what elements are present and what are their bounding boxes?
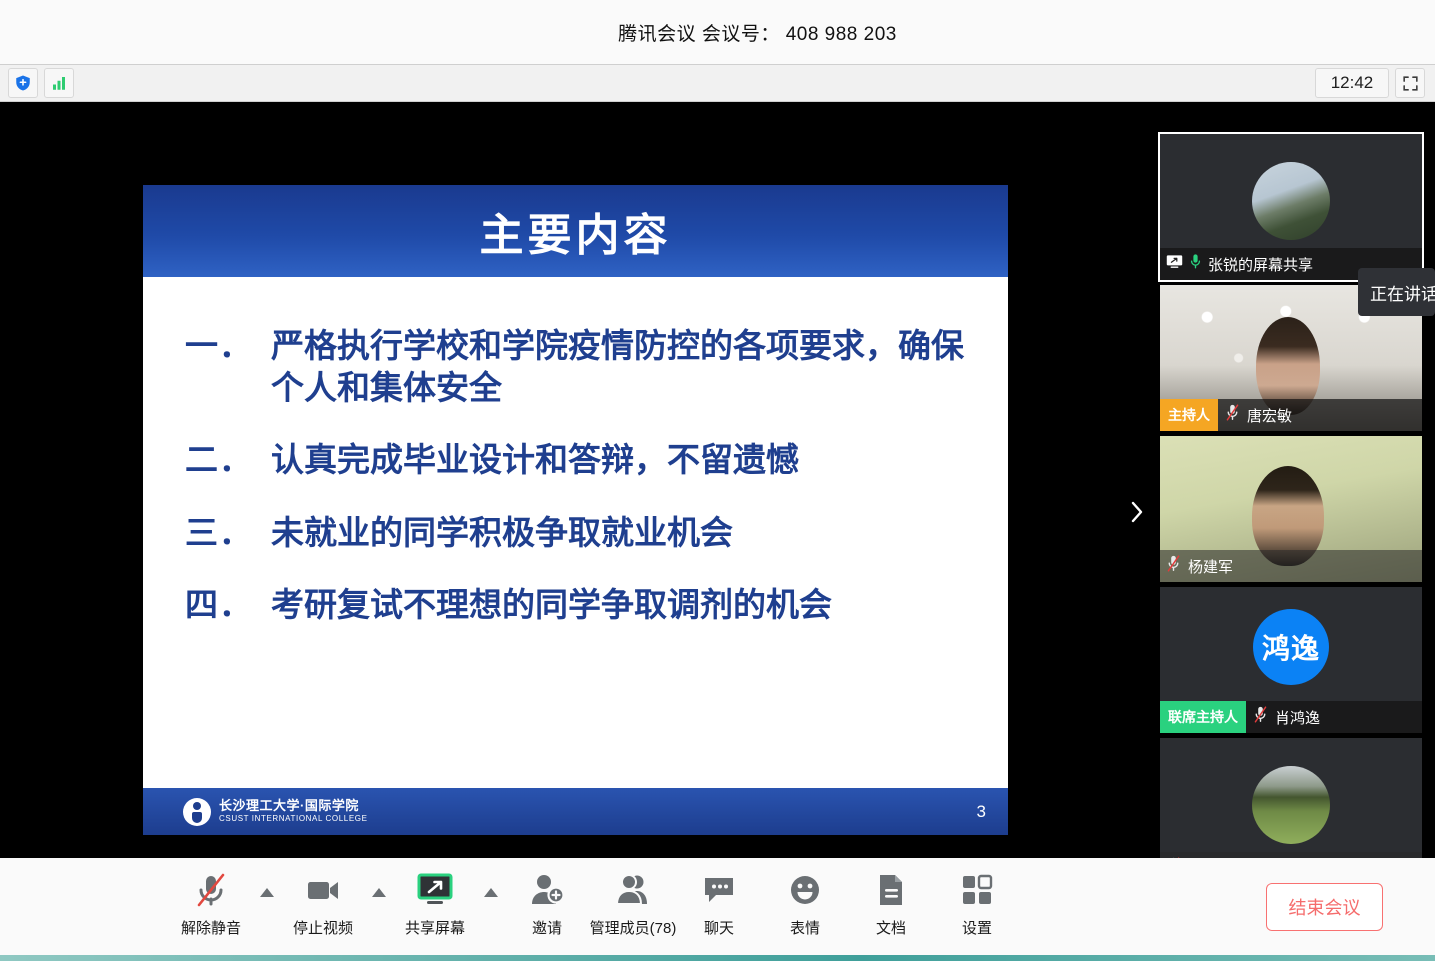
control-label: 文档 bbox=[876, 917, 906, 938]
desktop-background-strip bbox=[0, 955, 1435, 961]
control-label: 邀请 bbox=[532, 917, 562, 938]
manage-members-button[interactable]: 管理成员(78) bbox=[590, 870, 676, 938]
end-meeting-button[interactable]: 结束会议 bbox=[1266, 883, 1383, 931]
chevron-up-icon[interactable] bbox=[366, 870, 392, 897]
participant-name: 唐宏敏 bbox=[1247, 405, 1292, 426]
control-label: 聊天 bbox=[704, 917, 734, 938]
camera-icon bbox=[305, 870, 341, 910]
document-button[interactable]: 文档 bbox=[848, 870, 934, 938]
share-screen-button[interactable]: 共享屏幕 bbox=[392, 870, 478, 938]
meeting-control-bar: 解除静音 停止视频 bbox=[0, 858, 1435, 955]
invite-button[interactable]: 邀请 bbox=[504, 870, 590, 938]
speaking-tooltip: 正在讲话 bbox=[1358, 268, 1435, 316]
emoji-button[interactable]: 表情 bbox=[762, 870, 848, 938]
meeting-id-text: 腾讯会议 会议号： 408 988 203 bbox=[618, 19, 897, 46]
video-tile[interactable]: 鸿逸 联席主持人 肖鸿逸 bbox=[1158, 585, 1424, 735]
emoji-icon bbox=[789, 870, 821, 910]
tile-info-bar: 联席主持人 肖鸿逸 bbox=[1160, 701, 1422, 733]
bullet-text: 严格执行学校和学院疫情防控的各项要求，确保个人和集体安全 bbox=[271, 325, 982, 409]
chevron-right-icon[interactable] bbox=[1120, 487, 1154, 537]
screen-share-icon bbox=[1166, 254, 1183, 274]
document-icon bbox=[877, 870, 905, 910]
control-label: 设置 bbox=[962, 917, 992, 938]
slide-page-number: 3 bbox=[977, 802, 986, 822]
control-label: 表情 bbox=[790, 917, 820, 938]
mic-muted-icon bbox=[1166, 555, 1181, 577]
control-label: 停止视频 bbox=[293, 917, 353, 938]
mic-on-icon bbox=[1190, 253, 1201, 275]
chevron-up-icon[interactable] bbox=[478, 870, 504, 897]
avatar: 鸿逸 bbox=[1253, 609, 1329, 685]
participant-name: 张锐的屏幕共享 bbox=[1208, 254, 1313, 275]
settings-button[interactable]: 设置 bbox=[934, 870, 1020, 938]
meeting-stage: 主要内容 一． 严格执行学校和学院疫情防控的各项要求，确保个人和集体安全 二． … bbox=[0, 102, 1435, 858]
bullet-text: 认真完成毕业设计和答辩，不留遗憾 bbox=[271, 439, 982, 481]
slide-header: 主要内容 bbox=[143, 185, 1008, 277]
stop-video-button[interactable]: 停止视频 bbox=[280, 870, 366, 938]
clock-display: 12:42 bbox=[1315, 68, 1389, 98]
tile-info-bar: 主持人 唐宏敏 bbox=[1160, 399, 1422, 431]
slide-bullet: 三． 未就业的同学积极争取就业机会 bbox=[185, 512, 982, 554]
manage-members-icon bbox=[615, 870, 651, 910]
unmute-button[interactable]: 解除静音 bbox=[168, 870, 254, 938]
signal-bars-icon[interactable] bbox=[44, 68, 74, 98]
avatar bbox=[1252, 766, 1330, 844]
fullscreen-icon[interactable] bbox=[1395, 68, 1425, 98]
participant-name: 肖鸿逸 bbox=[1275, 707, 1320, 728]
control-label: 共享屏幕 bbox=[405, 917, 465, 938]
slide-body: 一． 严格执行学校和学院疫情防控的各项要求，确保个人和集体安全 二． 认真完成毕… bbox=[143, 277, 1008, 788]
control-label: 管理成员(78) bbox=[590, 917, 677, 938]
shield-plus-icon[interactable] bbox=[8, 68, 38, 98]
video-tile[interactable]: 杨建军 bbox=[1158, 434, 1424, 584]
bullet-number: 一． bbox=[185, 325, 271, 367]
host-toolbar: 12:42 bbox=[0, 64, 1435, 102]
logo-emblem-icon bbox=[183, 798, 211, 826]
logo-name-cn: 长沙理工大学·国际学院 bbox=[219, 799, 368, 814]
bullet-text: 考研复试不理想的同学争取调剂的机会 bbox=[271, 584, 982, 626]
settings-grid-icon bbox=[961, 870, 993, 910]
slide-bullet: 四． 考研复试不理想的同学争取调剂的机会 bbox=[185, 584, 982, 626]
slide-bullet: 一． 严格执行学校和学院疫情防控的各项要求，确保个人和集体安全 bbox=[185, 325, 982, 409]
slide-footer: 长沙理工大学·国际学院 CSUST INTERNATIONAL COLLEGE … bbox=[143, 788, 1008, 835]
invite-user-icon bbox=[529, 870, 565, 910]
chevron-up-icon[interactable] bbox=[254, 870, 280, 897]
participant-video-panel[interactable]: 张锐的屏幕共享 主持人 唐宏 bbox=[1155, 132, 1435, 858]
host-badge: 主持人 bbox=[1160, 399, 1218, 431]
meeting-title-bar: 腾讯会议 会议号： 408 988 203 bbox=[0, 0, 1435, 64]
tencent-meeting-window: 腾讯会议 会议号： 408 988 203 12:42 bbox=[0, 0, 1435, 961]
slide-bullet: 二． 认真完成毕业设计和答辩，不留遗憾 bbox=[185, 439, 982, 481]
chat-button[interactable]: 聊天 bbox=[676, 870, 762, 938]
video-tile[interactable] bbox=[1158, 736, 1424, 858]
cohost-badge: 联席主持人 bbox=[1160, 701, 1246, 733]
share-screen-icon bbox=[415, 870, 455, 910]
bullet-number: 三． bbox=[185, 512, 271, 554]
shared-slide: 主要内容 一． 严格执行学校和学院疫情防控的各项要求，确保个人和集体安全 二． … bbox=[143, 185, 1008, 835]
avatar bbox=[1252, 162, 1330, 240]
mic-muted-icon bbox=[1225, 404, 1240, 426]
bullet-text: 未就业的同学积极争取就业机会 bbox=[271, 512, 982, 554]
logo-name-en: CSUST INTERNATIONAL COLLEGE bbox=[219, 814, 368, 823]
bullet-number: 二． bbox=[185, 439, 271, 481]
bullet-number: 四． bbox=[185, 584, 271, 626]
slide-title: 主要内容 bbox=[480, 199, 672, 263]
participant-name: 杨建军 bbox=[1188, 556, 1233, 577]
chat-icon bbox=[702, 870, 736, 910]
mic-muted-icon bbox=[1253, 706, 1268, 728]
mic-muted-icon bbox=[194, 870, 228, 910]
control-label: 解除静音 bbox=[181, 917, 241, 938]
college-logo: 长沙理工大学·国际学院 CSUST INTERNATIONAL COLLEGE bbox=[183, 798, 368, 826]
video-tile[interactable]: 张锐的屏幕共享 bbox=[1158, 132, 1424, 282]
tile-info-bar: 杨建军 bbox=[1160, 550, 1422, 582]
